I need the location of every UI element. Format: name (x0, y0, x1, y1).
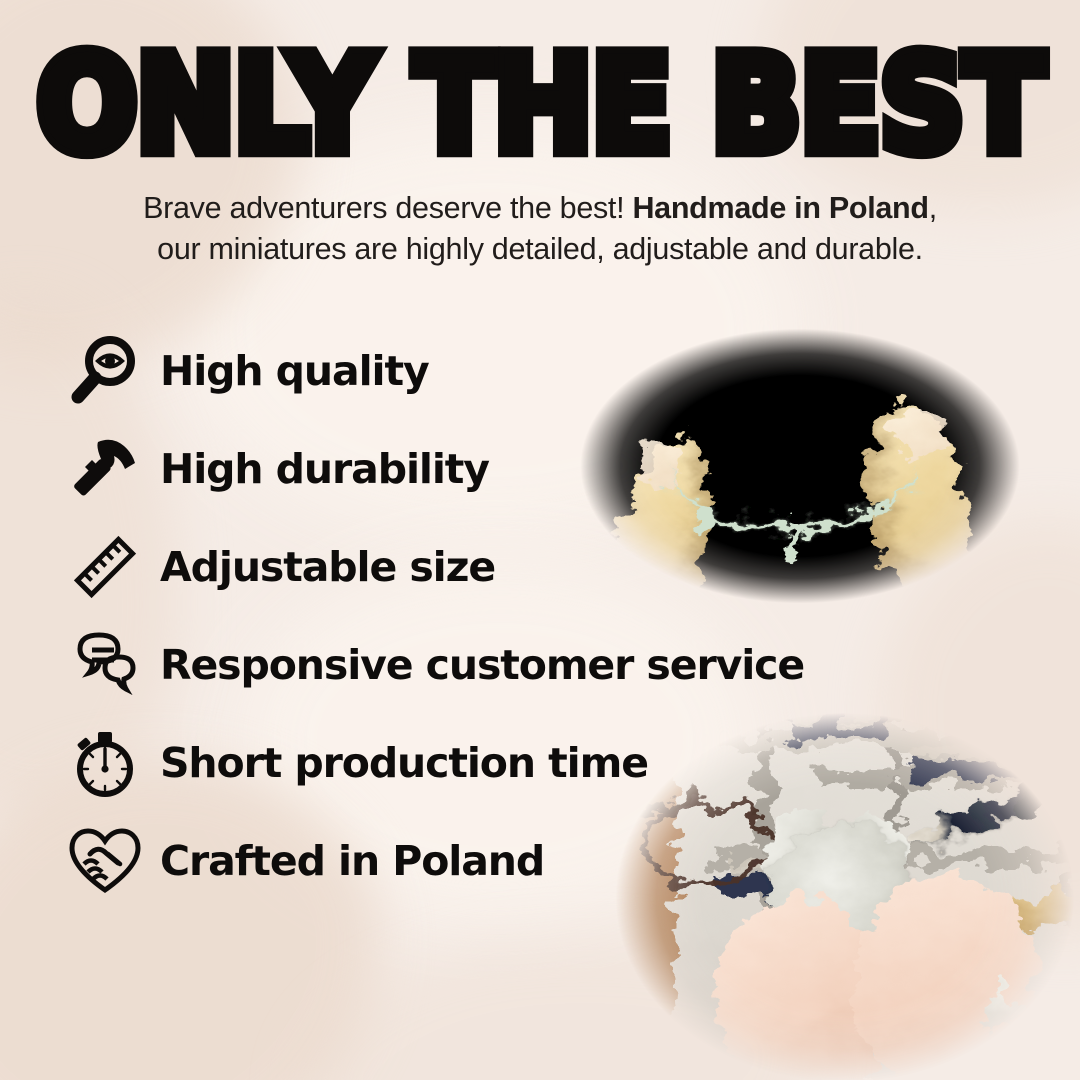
subtitle-tail: , (929, 191, 937, 225)
photo-workshop-painting (590, 700, 1080, 1080)
page-title: ONLY THE BEST (0, 38, 1080, 170)
infographic-page: ONLY THE BEST Brave adventurers deserve … (0, 0, 1080, 1080)
painting-tool (910, 786, 1039, 851)
photo-flexing-miniature (540, 316, 1060, 616)
subtitle-lead: Brave adventurers deserve the best! (143, 191, 632, 225)
feature-label: Adjustable size (160, 543, 495, 591)
feature-label: Short production time (160, 739, 648, 787)
hammer-icon (62, 426, 148, 512)
feature-label: High quality (160, 347, 429, 395)
subtitle-line2: our miniatures are highly detailed, adju… (157, 232, 923, 266)
subtitle: Brave adventurers deserve the best! Hand… (90, 188, 990, 270)
feature-label: High durability (160, 445, 489, 493)
magnifier-eye-icon (62, 328, 148, 414)
ruler-icon (62, 524, 148, 610)
subtitle-highlight: Handmade in Poland (632, 191, 928, 225)
photo-backdrop (540, 316, 1060, 616)
photo-scene (590, 700, 1080, 1080)
stored-miniatures (912, 744, 1062, 762)
stopwatch-icon (62, 720, 148, 806)
eyeglasses (642, 800, 772, 890)
feature-label: Crafted in Poland (160, 837, 544, 885)
feature-label: Responsive customer service (160, 641, 804, 689)
stored-miniatures (790, 704, 900, 722)
heart-handshake-icon (62, 818, 148, 904)
speech-bubbles-icon (62, 622, 148, 708)
miniature-knob (692, 508, 714, 526)
